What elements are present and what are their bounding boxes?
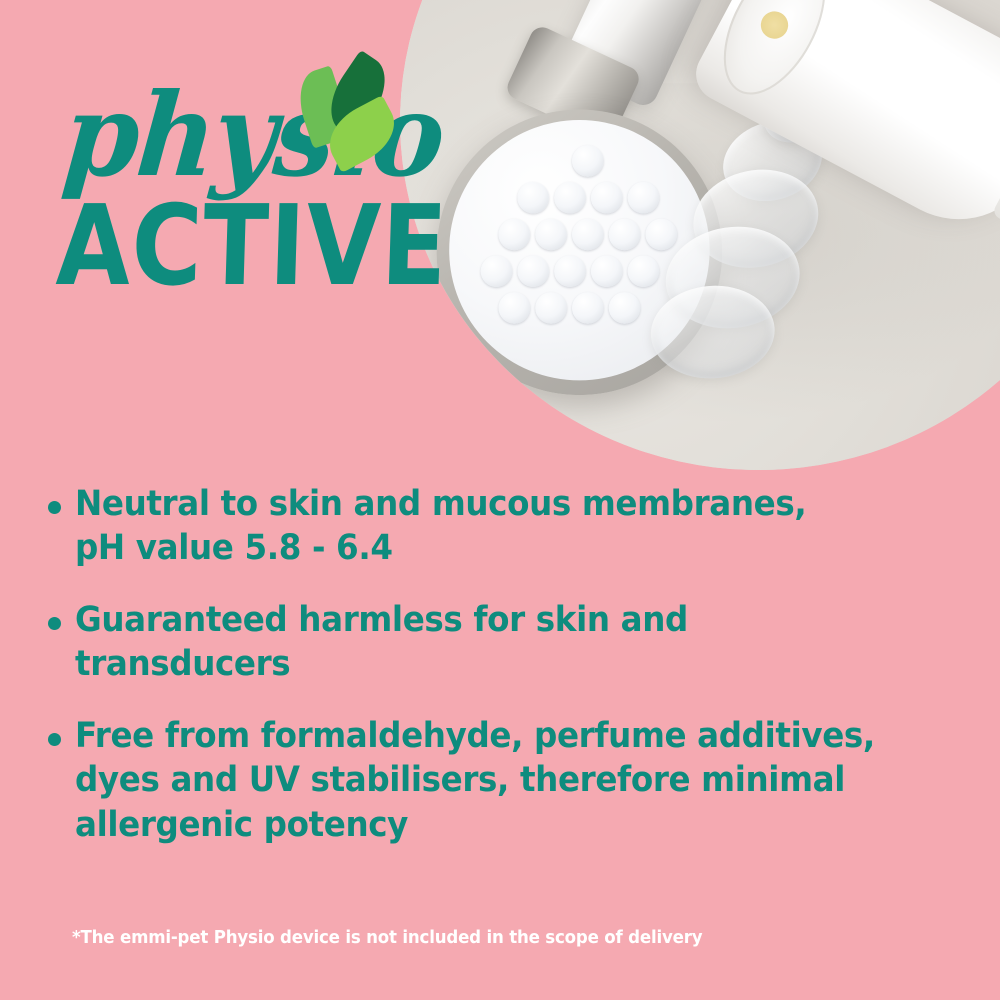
massage-dimple [590, 182, 622, 214]
bullet-dot-icon [48, 617, 61, 630]
massage-dimple [646, 219, 678, 250]
massage-dimple [609, 219, 641, 251]
bullet-dot-icon [48, 501, 61, 514]
list-item-label: Neutral to skin and mucous membranes, pH… [75, 482, 806, 570]
massage-dimple [627, 255, 659, 287]
massage-dimple [554, 255, 586, 287]
bullet-dot-icon [48, 733, 61, 746]
list-item-label: Guaranteed harmless for skin and transdu… [75, 598, 688, 686]
leaf-icon [291, 54, 406, 164]
massage-dimple [480, 255, 512, 287]
list-item-label: Free from formaldehyde, perfume additive… [75, 714, 875, 846]
massage-dimple [517, 255, 549, 286]
massage-dimple [535, 219, 567, 251]
massage-dimple [499, 292, 530, 324]
photo-background-surface [382, 0, 1000, 487]
logo-word-active: ACTIVE [55, 192, 450, 303]
massage-dimple [609, 292, 641, 324]
product-photo [376, 0, 1000, 494]
massage-dimple [517, 182, 549, 213]
cap-dot-icon [756, 7, 793, 44]
massage-dimple [572, 292, 604, 324]
list-item: Guaranteed harmless for skin and transdu… [48, 598, 948, 686]
massage-dimple [554, 182, 586, 214]
bottle-cap [703, 0, 846, 111]
list-item: Free from formaldehyde, perfume additive… [48, 714, 948, 846]
massage-dimple [590, 255, 622, 287]
brand-logo: physio ACTIVE [58, 62, 458, 322]
massage-dimple [572, 219, 604, 250]
massage-dimple [572, 145, 604, 176]
massage-dimple [499, 219, 530, 251]
list-item: Neutral to skin and mucous membranes, pH… [48, 482, 948, 570]
footnote-disclaimer: *The emmi-pet Physio device is not inclu… [72, 928, 702, 948]
massage-dimple [535, 292, 567, 324]
product-feature-poster: physio ACTIVE Neutral to skin and mucous… [0, 0, 1000, 1000]
feature-list: Neutral to skin and mucous membranes, pH… [48, 482, 948, 875]
massage-dimple [627, 182, 659, 214]
